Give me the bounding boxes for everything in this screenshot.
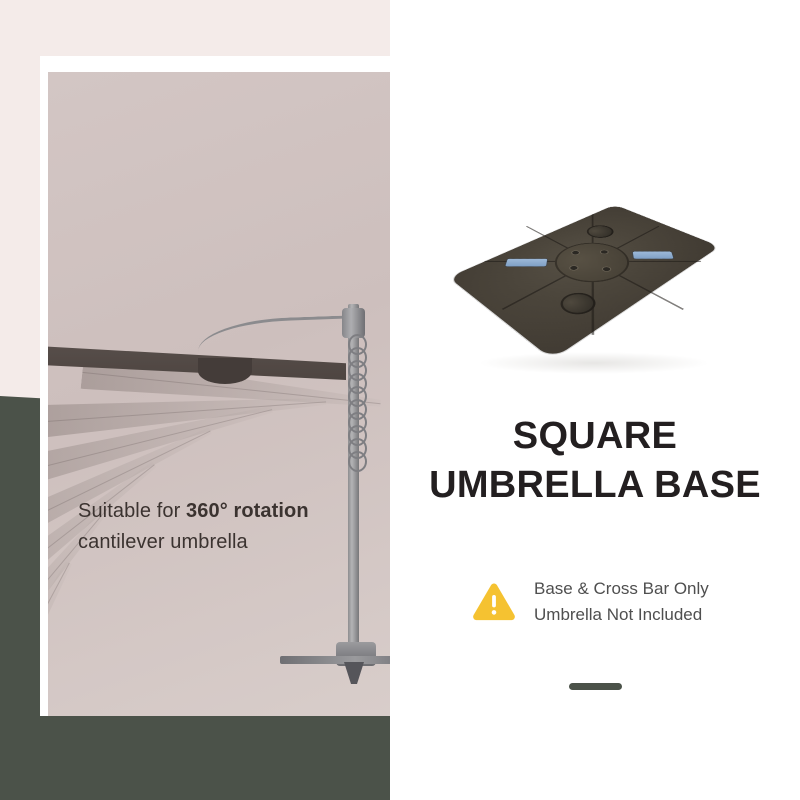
base-top-surface	[449, 205, 720, 360]
headline-line-2: UMBRELLA BASE	[400, 461, 790, 510]
blue-label-sticker	[505, 259, 547, 267]
umbrella-rotation-photo: Suitable for 360° rotation cantilever um…	[48, 72, 390, 716]
caption-highlight: 360° rotation	[186, 500, 309, 522]
rotation-caption: Suitable for 360° rotation cantilever um…	[78, 496, 368, 558]
fill-cap	[553, 289, 602, 319]
headline-line-1: SQUARE	[400, 412, 790, 461]
decorative-divider	[569, 683, 622, 690]
page-title: SQUARE UMBRELLA BASE	[400, 412, 790, 509]
notice-text: Base & Cross Bar Only Umbrella Not Inclu…	[534, 576, 709, 627]
caption-prefix: Suitable for	[78, 500, 186, 522]
blue-label-sticker	[633, 252, 674, 259]
rotation-chain	[348, 334, 364, 466]
cross-bar	[280, 656, 390, 664]
caption-suffix: cantilever umbrella	[78, 531, 248, 553]
right-background-panel	[390, 0, 800, 800]
notice-line-1: Base & Cross Bar Only	[534, 576, 709, 602]
product-notice: Base & Cross Bar Only Umbrella Not Inclu…	[472, 576, 709, 627]
product-marketing-image: Suitable for 360° rotation cantilever um…	[0, 0, 800, 800]
umbrella-base-product-photo	[468, 186, 718, 376]
notice-line-2: Umbrella Not Included	[534, 602, 709, 628]
warning-triangle-icon	[472, 582, 516, 622]
fill-cap	[581, 223, 619, 241]
